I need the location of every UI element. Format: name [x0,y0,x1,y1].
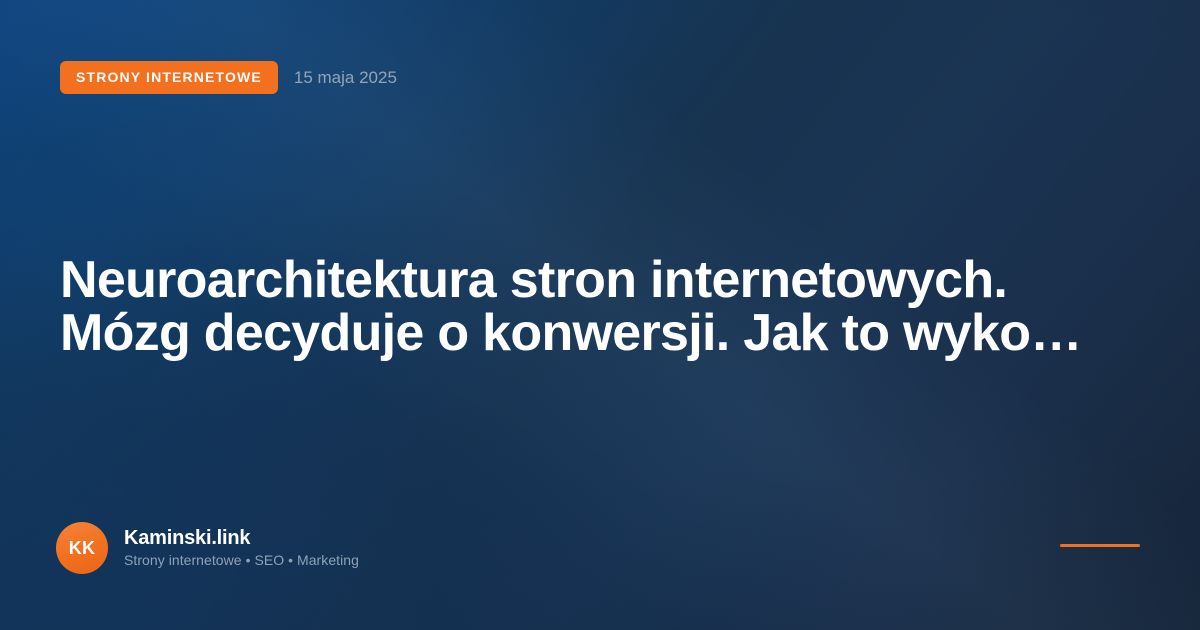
meta-row: STRONY INTERNETOWE 15 maja 2025 [60,61,397,94]
social-share-card: STRONY INTERNETOWE 15 maja 2025 Neuroarc… [0,0,1200,630]
accent-rule [1060,544,1140,547]
brand-name: Kaminski.link [124,528,359,549]
card-content: STRONY INTERNETOWE 15 maja 2025 Neuroarc… [0,0,1200,630]
page-title: Neuroarchitektura stron internetowych. M… [60,254,1100,360]
headline-line-2: Mózg decyduje o konwersji. Jak to wyko… [60,307,1100,360]
brand-footer[interactable]: KK Kaminski.link Strony internetowe • SE… [56,522,359,574]
brand-tagline: Strony internetowe • SEO • Marketing [124,553,359,568]
category-badge[interactable]: STRONY INTERNETOWE [60,61,278,94]
avatar: KK [56,522,108,574]
brand-text: Kaminski.link Strony internetowe • SEO •… [124,528,359,568]
publish-date: 15 maja 2025 [294,69,397,86]
headline-line-1: Neuroarchitektura stron internetowych. [60,254,1100,307]
